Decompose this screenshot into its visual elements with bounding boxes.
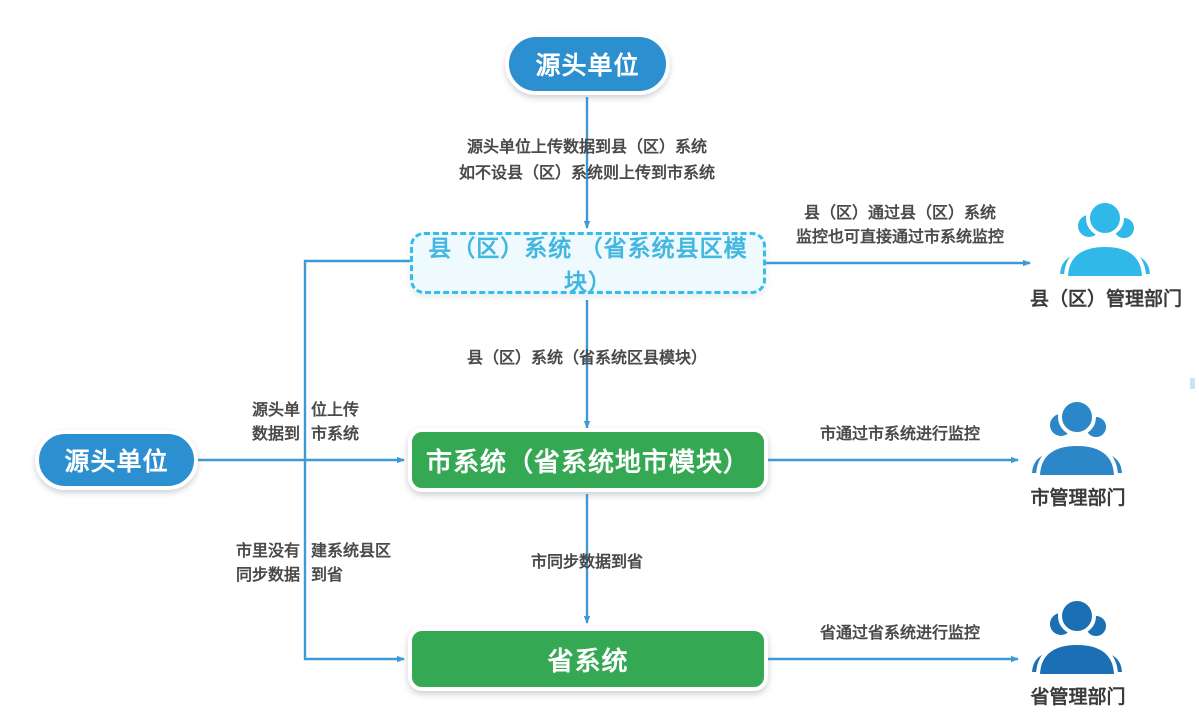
department-county[interactable]: 县（区）管理部门 — [1030, 196, 1182, 311]
node-label: 市系统（省系统地市模块） — [426, 442, 750, 479]
label-left-source-to-province-l1: 市里没有 — [185, 540, 300, 564]
label-county-to-dept-line1: 县（区）通过县（区）系统 — [770, 202, 1030, 226]
label-county-to-city: 县（区）系统（省系统区县模块） — [437, 347, 737, 371]
edge-artifact-mark — [1190, 378, 1195, 389]
label-left-source-to-city-r2: 市系统 — [311, 423, 421, 447]
department-caption: 省管理部门 — [1030, 682, 1125, 709]
label-left-source-to-province-r2: 到省 — [311, 564, 451, 588]
node-label: 源头单位 — [64, 442, 168, 478]
node-province-system[interactable]: 省系统 — [408, 627, 768, 691]
people-group-icon — [1046, 196, 1166, 282]
label-province-to-dept: 省通过省系统进行监控 — [790, 622, 1010, 646]
label-source-to-county-line2: 如不设县（区）系统则上传到市系统 — [387, 162, 787, 186]
node-label: 源头单位 — [535, 46, 639, 82]
edge-left-riser-county-to-province — [305, 261, 410, 659]
label-county-to-dept-line2: 监控也可直接通过市系统监控 — [770, 226, 1030, 250]
label-left-source-to-province-l2: 同步数据 — [185, 564, 300, 588]
department-province[interactable]: 省管理部门 — [1018, 594, 1138, 709]
department-city[interactable]: 市管理部门 — [1018, 395, 1138, 510]
node-source-unit-top[interactable]: 源头单位 — [505, 33, 670, 95]
node-city-system[interactable]: 市系统（省系统地市模块） — [408, 428, 768, 492]
people-group-icon — [1018, 594, 1138, 680]
label-source-to-county-line1: 源头单位上传数据到县（区）系统 — [387, 136, 787, 160]
people-group-icon — [1018, 395, 1138, 481]
node-source-unit-left[interactable]: 源头单位 — [35, 430, 198, 490]
label-left-source-to-city-l1: 源头单 — [205, 399, 300, 423]
department-caption: 县（区）管理部门 — [1030, 284, 1182, 311]
label-left-source-to-province-r1: 建系统县区 — [311, 540, 451, 564]
label-left-source-to-city-l2: 数据到 — [205, 423, 300, 447]
department-caption: 市管理部门 — [1030, 483, 1125, 510]
node-label: 县（区）系统 （省系统县区模块） — [413, 229, 763, 297]
node-label: 省系统 — [547, 641, 628, 678]
label-left-source-to-city-r1: 位上传 — [311, 399, 421, 423]
flowchart-canvas: 源头单位 县（区）系统 （省系统县区模块） 市系统（省系统地市模块） 省系统 源… — [0, 0, 1199, 718]
label-city-to-dept: 市通过市系统进行监控 — [790, 423, 1010, 447]
label-city-to-province: 市同步数据到省 — [467, 551, 707, 575]
node-county-system[interactable]: 县（区）系统 （省系统县区模块） — [410, 232, 766, 294]
